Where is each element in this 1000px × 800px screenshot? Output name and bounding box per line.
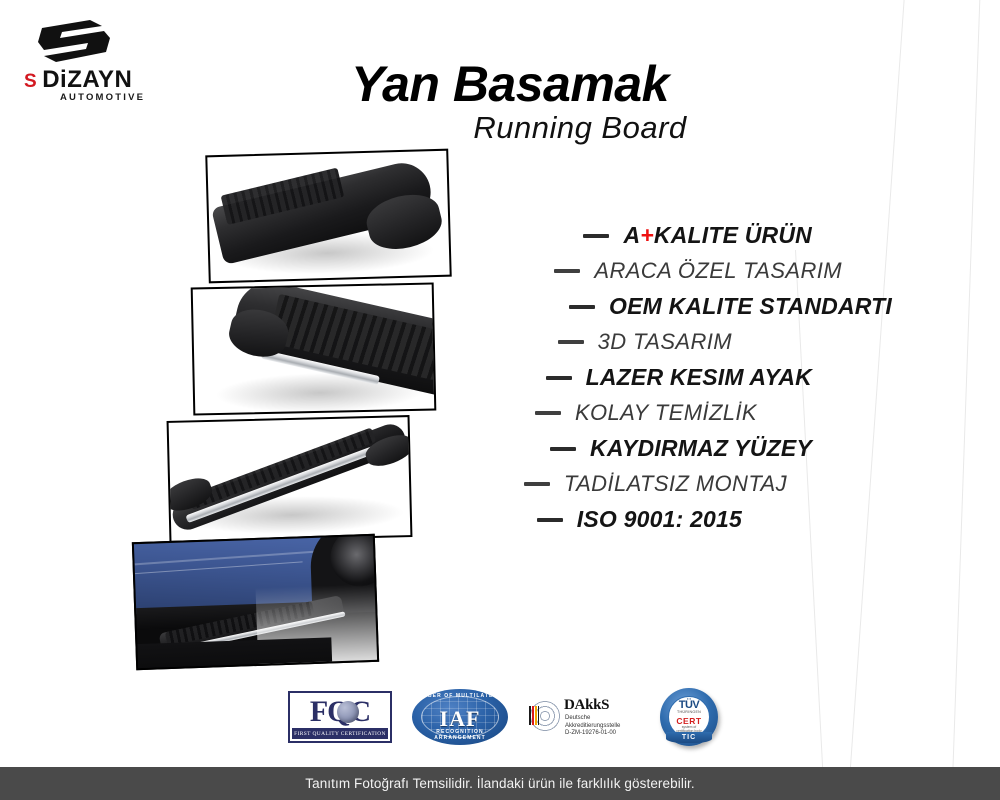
feature-label: ISO 9001: 2015: [577, 506, 742, 533]
s-logo-icon: [32, 18, 120, 64]
tuv-region: THÜRINGEN: [660, 710, 718, 714]
feature-item: KAYDIRMAZ YÜZEY: [470, 435, 900, 462]
feature-item: 3D TASARIM: [470, 329, 900, 355]
product-photo-1: [205, 149, 451, 284]
iaf-certification-logo: MEMBER OF MULTILATERAL IAF RECOGNITION A…: [412, 689, 508, 745]
watermark-line: [950, 0, 981, 800]
brand-name: DiZAYN: [42, 66, 132, 94]
brand-wordmark: S DiZAYN: [24, 66, 132, 94]
feature-list: A+KALITE ÜRÜN ARACA ÖZEL TASARIM OEM KAL…: [470, 222, 900, 533]
feature-item: LAZER KESIM AYAK: [470, 364, 900, 391]
feature-item: KOLAY TEMİZLİK: [470, 400, 900, 426]
brand-initial: S: [24, 71, 36, 93]
bullet-dash-icon: [546, 376, 572, 380]
bullet-dash-icon: [583, 234, 609, 238]
iaf-bottom-text: RECOGNITION ARRANGEMENT: [412, 729, 508, 741]
bullet-dash-icon: [558, 340, 584, 344]
dakks-subtext: Deutsche Akkreditierungsstelle D-ZM-1927…: [565, 715, 620, 738]
iaf-top-text: MEMBER OF MULTILATERAL: [412, 693, 508, 699]
dakks-name: DAkkS: [564, 697, 609, 714]
product-photo-2: [191, 282, 437, 415]
brand-tagline: AUTOMOTIVE: [60, 92, 145, 103]
feature-label: 3D TASARIM: [598, 329, 732, 355]
feature-label: OEM KALITE STANDARTI: [609, 293, 892, 320]
dakks-line-2: Akkreditierungsstelle: [565, 723, 620, 731]
tuv-certification-logo: TÜV THÜRINGEN CERT system of certificati…: [660, 688, 718, 746]
bullet-dash-icon: [524, 482, 550, 486]
feature-label: TADİLATSIZ MONTAJ: [564, 471, 787, 497]
plus-accent: +: [640, 222, 654, 248]
feature-item: ISO 9001: 2015: [470, 506, 900, 533]
feature-label: KAYDIRMAZ YÜZEY: [590, 435, 812, 462]
globe-icon: [337, 701, 359, 723]
brand-logo: S DiZAYN AUTOMOTIVE: [24, 18, 174, 98]
advertisement-canvas: S DiZAYN AUTOMOTIVE Yan Basamak Running …: [0, 0, 1000, 800]
footer-bar: Tanıtım Fotoğrafı Temsilidir. İlandaki ü…: [0, 767, 1000, 800]
feature-item: ARACA ÖZEL TASARIM: [470, 258, 900, 284]
fqc-certification-logo: FQC FIRST QUALITY CERTIFICATION: [288, 691, 392, 743]
feature-label: KOLAY TEMİZLİK: [575, 400, 757, 426]
tuv-band-label: TIC: [666, 732, 712, 743]
dakks-certification-logo: DAkkS Deutsche Akkreditierungsstelle D-Z…: [528, 693, 640, 741]
page-subtitle: Running Board: [380, 110, 780, 146]
certification-logos: FQC FIRST QUALITY CERTIFICATION MEMBER O…: [288, 684, 718, 750]
bullet-dash-icon: [537, 518, 563, 522]
bullet-dash-icon: [554, 269, 580, 273]
page-title: Yan Basamak: [300, 55, 720, 113]
feature-label: ARACA ÖZEL TASARIM: [594, 258, 842, 284]
product-photo-3: [167, 415, 413, 543]
feature-label: A+KALITE ÜRÜN: [623, 222, 812, 249]
feature-item: TADİLATSIZ MONTAJ: [470, 471, 900, 497]
feature-item: OEM KALITE STANDARTI: [470, 293, 900, 320]
footer-disclaimer: Tanıtım Fotoğrafı Temsilidir. İlandaki ü…: [305, 776, 695, 791]
product-photo-4: [132, 534, 379, 670]
bullet-dash-icon: [569, 305, 595, 309]
feature-label: LAZER KESIM AYAK: [586, 364, 812, 391]
bullet-dash-icon: [535, 411, 561, 415]
feature-item: A+KALITE ÜRÜN: [470, 222, 900, 249]
fqc-caption: FIRST QUALITY CERTIFICATION: [292, 728, 388, 739]
dakks-line-3: D-ZM-19276-01-00: [565, 730, 620, 738]
color-bars-icon: [529, 706, 539, 725]
dakks-line-1: Deutsche: [565, 715, 620, 723]
bullet-dash-icon: [550, 447, 576, 451]
